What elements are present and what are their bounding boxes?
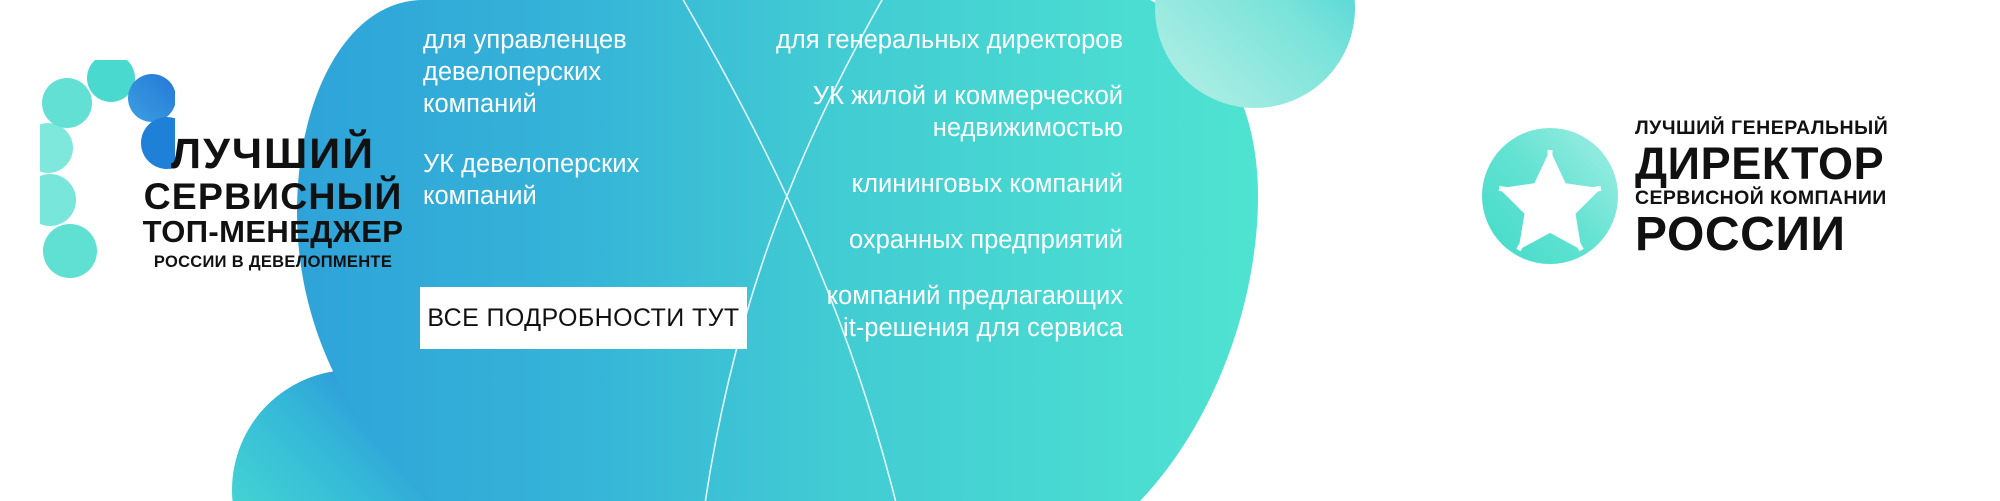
left-logo-text: ЛУЧШИЙ СЕРВИСНЫЙ ТОП-МЕНЕДЖЕР РОССИИ В Д… xyxy=(138,133,408,271)
left-logo-line-1: ЛУЧШИЙ xyxy=(138,133,408,176)
right-logo-line-1: ЛУЧШИЙ ГЕНЕРАЛЬНЫЙ xyxy=(1635,118,1980,139)
left-logo-line-3: ТОП-МЕНЕДЖЕР xyxy=(138,216,408,248)
audience-left-b1-l3: компаний xyxy=(423,88,723,120)
audience-right-i2-l2: недвижимостью xyxy=(740,112,1123,144)
audience-right-i5-l1: компаний предлагающих xyxy=(740,280,1123,312)
audience-right-item: для генеральных директоров xyxy=(740,24,1123,56)
audience-right-column: для генеральных директоров УК жилой и ко… xyxy=(740,24,1123,344)
left-logo: ЛУЧШИЙ СЕРВИСНЫЙ ТОП-МЕНЕДЖЕР РОССИИ В Д… xyxy=(40,60,400,360)
right-logo-line-4: РОССИИ xyxy=(1635,211,1980,259)
audience-right-i1-l1: для генеральных директоров xyxy=(740,24,1123,56)
audience-right-item: охранных предприятий xyxy=(740,224,1123,256)
audience-left-b2-l2: компаний xyxy=(423,180,723,212)
right-logo: ЛУЧШИЙ ГЕНЕРАЛЬНЫЙ ДИРЕКТОР СЕРВИСНОЙ КО… xyxy=(1480,118,1980,288)
left-logo-line-2: СЕРВИСНЫЙ xyxy=(138,177,408,215)
left-logo-line-4: РОССИИ В ДЕВЕЛОПМЕНТЕ xyxy=(138,254,408,271)
audience-left-b1-l1: для управленцев xyxy=(423,24,723,56)
audience-right-i4-l1: охранных предприятий xyxy=(740,224,1123,256)
audience-left-b2-l1: УК девелоперских xyxy=(423,148,723,180)
details-button-label: ВСЕ ПОДРОБНОСТИ ТУТ xyxy=(427,304,739,333)
audience-right-i3-l1: клининговых компаний xyxy=(740,168,1123,200)
audience-right-item: клининговых компаний xyxy=(740,168,1123,200)
audience-right-i5-l2: it-решения для сервиса xyxy=(740,312,1123,344)
audience-right-i2-l1: УК жилой и коммерческой xyxy=(740,80,1123,112)
audience-left-column: для управленцев девелоперских компаний У… xyxy=(423,24,723,212)
star-badge-logo-icon xyxy=(1480,126,1620,266)
audience-left-b1-l2: девелоперских xyxy=(423,56,723,88)
right-logo-line-3: СЕРВИСНОЙ КОМПАНИИ xyxy=(1635,188,1980,209)
spacer xyxy=(423,120,723,148)
audience-right-item: УК жилой и коммерческой недвижимостью xyxy=(740,80,1123,144)
promo-banner: ЛУЧШИЙ СЕРВИСНЫЙ ТОП-МЕНЕДЖЕР РОССИИ В Д… xyxy=(0,0,2000,501)
details-button[interactable]: ВСЕ ПОДРОБНОСТИ ТУТ xyxy=(420,287,747,349)
right-logo-line-2: ДИРЕКТОР xyxy=(1635,141,1980,186)
right-logo-text: ЛУЧШИЙ ГЕНЕРАЛЬНЫЙ ДИРЕКТОР СЕРВИСНОЙ КО… xyxy=(1635,118,1980,259)
audience-right-item: компаний предлагающих it-решения для сер… xyxy=(740,280,1123,344)
